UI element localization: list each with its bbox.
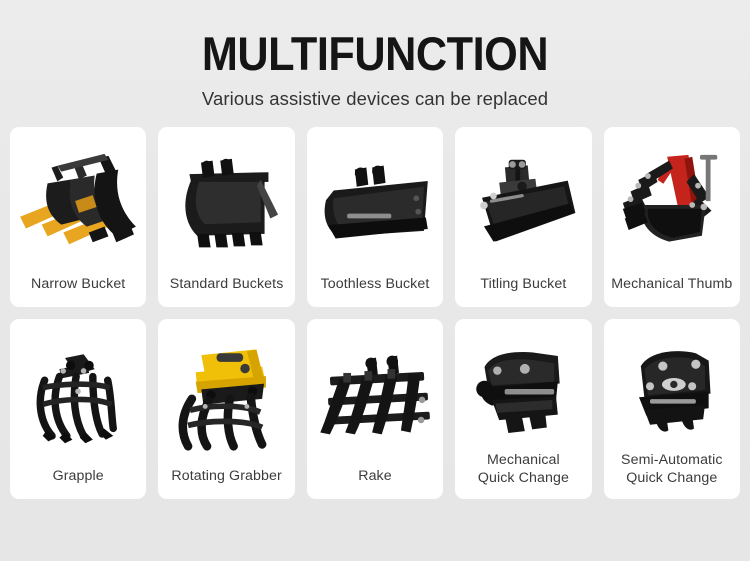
product-label: Narrow Bucket (10, 276, 146, 307)
page-subtitle: Various assistive devices can be replace… (10, 88, 740, 110)
page-title: MULTIFUNCTION (39, 30, 711, 78)
product-card-standard-buckets[interactable]: Standard Buckets (158, 127, 294, 307)
product-card-semi-automatic-quick-change[interactable]: Semi-Automatic Quick Change (604, 319, 740, 499)
product-label: Rake (307, 468, 443, 499)
product-label: Toothless Bucket (307, 276, 443, 307)
product-card-mechanical-thumb[interactable]: Mechanical Thumb (604, 127, 740, 307)
product-grid: Narrow Bucket (10, 124, 740, 561)
product-label: Mechanical Quick Change (455, 452, 591, 499)
standard-bucket-icon (158, 127, 294, 276)
grapple-icon (10, 319, 146, 468)
product-label: Semi-Automatic Quick Change (604, 452, 740, 499)
mechanical-thumb-icon (604, 127, 740, 276)
semi-automatic-quick-change-icon (604, 319, 740, 452)
mechanical-quick-change-icon (455, 319, 591, 452)
product-card-grapple[interactable]: Grapple (10, 319, 146, 499)
banner-header: MULTIFUNCTION Various assistive devices … (10, 0, 740, 124)
product-label: Rotating Grabber (158, 468, 294, 499)
product-label: Standard Buckets (158, 276, 294, 307)
narrow-bucket-icon (10, 127, 146, 276)
product-label: Titling Bucket (455, 276, 591, 307)
rake-icon (307, 319, 443, 468)
product-label: Grapple (10, 468, 146, 499)
product-card-narrow-bucket[interactable]: Narrow Bucket (10, 127, 146, 307)
product-card-rotating-grabber[interactable]: Rotating Grabber (158, 319, 294, 499)
product-card-titling-bucket[interactable]: Titling Bucket (455, 127, 591, 307)
rotating-grabber-icon (158, 319, 294, 468)
product-card-rake[interactable]: Rake (307, 319, 443, 499)
product-card-toothless-bucket[interactable]: Toothless Bucket (307, 127, 443, 307)
multifunction-banner: MULTIFUNCTION Various assistive devices … (0, 0, 750, 561)
product-card-mechanical-quick-change[interactable]: Mechanical Quick Change (455, 319, 591, 499)
toothless-bucket-icon (307, 127, 443, 276)
tilting-bucket-icon (455, 127, 591, 276)
product-label: Mechanical Thumb (604, 276, 740, 307)
